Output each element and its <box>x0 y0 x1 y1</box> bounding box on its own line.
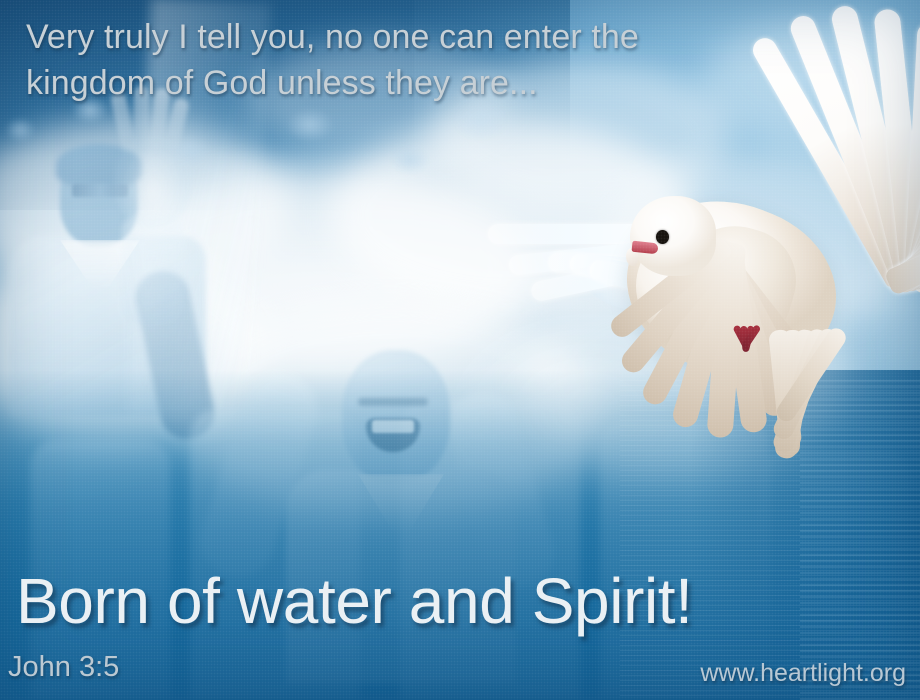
website-credit: www.heartlight.org <box>700 658 906 688</box>
verse-text: Very truly I tell you, no one can enter … <box>26 14 766 106</box>
scripture-reference: John 3:5 <box>8 650 119 684</box>
scripture-image: Very truly I tell you, no one can enter … <box>0 0 920 700</box>
headline-text: Born of water and Spirit! <box>16 568 693 634</box>
